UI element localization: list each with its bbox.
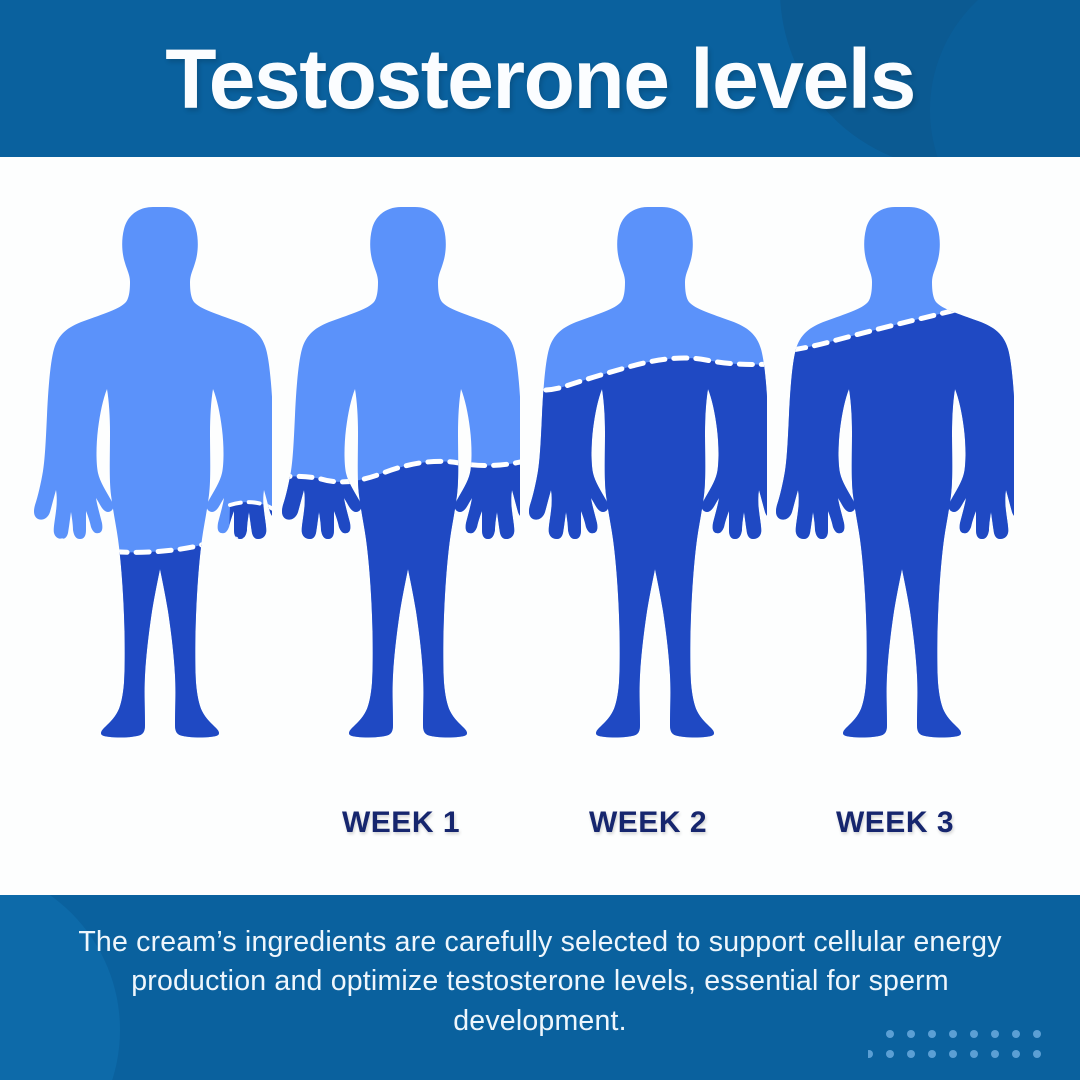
page-title: Testosterone levels — [0, 0, 1080, 157]
infographic-canvas: Testosterone levels — [0, 0, 1080, 1080]
week-label-2: WEEK 2 — [529, 806, 767, 840]
week-label-3: WEEK 3 — [776, 806, 1014, 840]
male-body-silhouette-icon — [282, 205, 520, 783]
footer-banner: The cream’s ingredients are carefully se… — [0, 895, 1080, 1080]
figures-row — [0, 157, 1080, 895]
body-figure-week-1 — [282, 205, 520, 783]
male-body-silhouette-icon — [34, 205, 272, 783]
body-figure-baseline — [34, 205, 272, 783]
body-figure-week-2 — [529, 205, 767, 783]
dot-grid-decoration-icon — [868, 1024, 1058, 1070]
week-label-1: WEEK 1 — [282, 806, 520, 840]
male-body-silhouette-icon — [776, 205, 1014, 783]
male-body-silhouette-icon — [529, 205, 767, 783]
body-figure-week-3 — [776, 205, 1014, 783]
